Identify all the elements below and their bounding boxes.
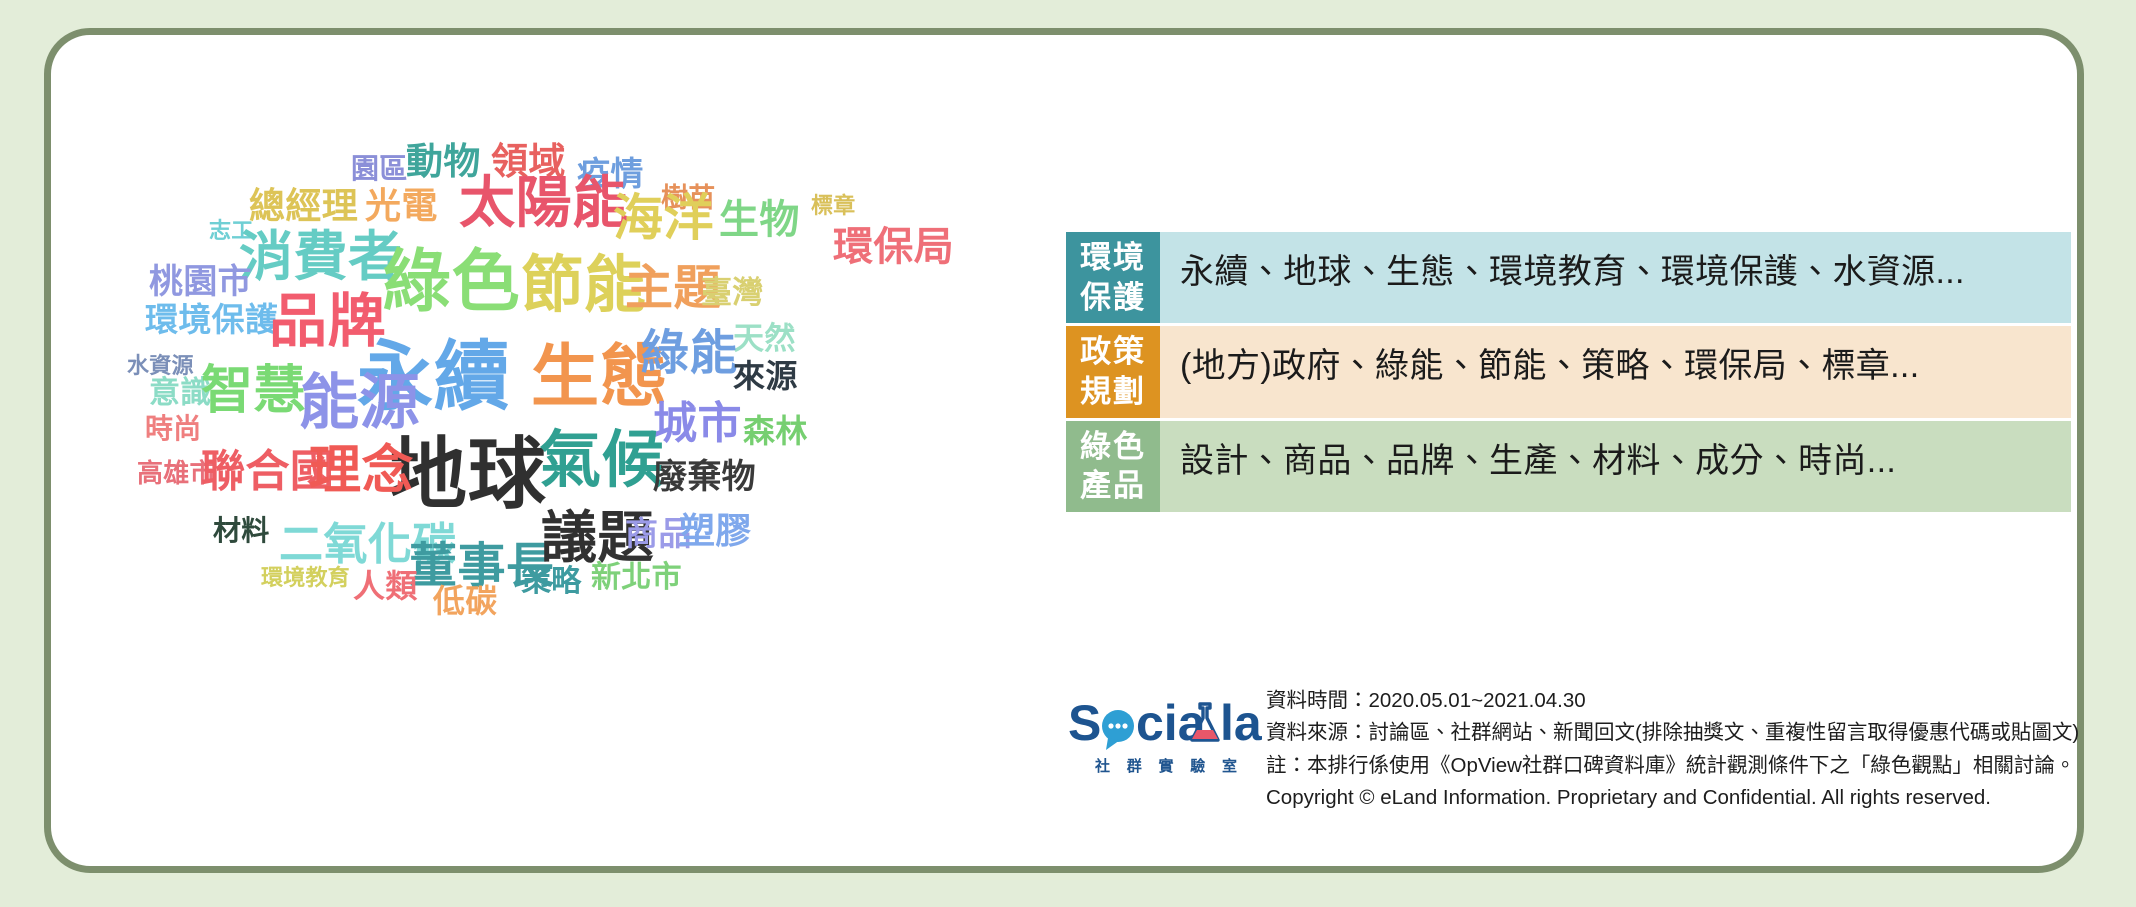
word-cloud-term-label: 海洋 <box>613 190 714 246</box>
category-label-line: 保護 <box>1080 278 1146 318</box>
footer-note-line: Copyright © eLand Information. Proprieta… <box>1266 782 2079 813</box>
word-cloud-term: 理念 <box>309 445 414 497</box>
word-cloud-term: 材料 <box>213 517 270 545</box>
word-cloud-term: 環保局 <box>833 227 954 267</box>
word-cloud-term: 人類 <box>353 570 418 602</box>
word-cloud-term-label: 氣候 <box>539 426 664 495</box>
word-cloud-term-label: 綠色 <box>383 244 520 320</box>
word-cloud-term: 標章 <box>811 195 855 217</box>
word-cloud-term-label: 人類 <box>353 568 418 604</box>
word-cloud-term: 海洋 <box>613 193 714 243</box>
word-cloud-term-label: 低碳 <box>433 583 498 619</box>
footer-note-line: 資料來源：討論區、社群網站、新聞回文(排除抽獎文、重複性留言取得優惠代碼或貼圖文… <box>1266 717 2079 748</box>
word-cloud-term: 光電 <box>365 188 438 224</box>
table-row: 政策規劃(地方)政府、綠能、節能、策略、環保局、標章... <box>1066 326 2071 417</box>
word-cloud-term-label: 廢棄物 <box>653 458 756 496</box>
word-cloud-term: 綠色 <box>383 248 520 316</box>
word-cloud-term-label: 環保局 <box>833 225 954 269</box>
sociallab-logo: S cia lab 社 群 實 驗 室 <box>1066 680 1266 814</box>
word-cloud-term: 總經理 <box>249 188 358 224</box>
word-cloud-term: 城市 <box>653 402 742 446</box>
word-cloud-term-label: 生物 <box>719 198 800 242</box>
word-cloud-term-label: 消費者 <box>239 227 403 287</box>
category-cell: 綠色產品 <box>1066 421 1160 512</box>
word-cloud-term: 消費者 <box>239 230 403 284</box>
keywords-cell: (地方)政府、綠能、節能、策略、環保局、標章... <box>1160 326 2071 417</box>
category-cell: 環境保護 <box>1066 232 1160 323</box>
keywords-cell: 永續、地球、生態、環境教育、環境保護、水資源... <box>1160 232 2071 323</box>
svg-text:cia: cia <box>1136 696 1207 751</box>
word-cloud-term: 新北市 <box>591 563 682 593</box>
word-cloud-term: 低碳 <box>433 585 498 617</box>
word-cloud-term-label: 環境保護 <box>145 301 278 338</box>
word-cloud-term: 廢棄物 <box>653 460 756 494</box>
category-label-line: 綠色 <box>1080 427 1146 467</box>
word-cloud-term: 環境保護 <box>145 303 278 336</box>
footer-note-line: 資料時間：2020.05.01~2021.04.30 <box>1266 685 2079 716</box>
word-cloud-term: 策略 <box>521 567 582 597</box>
word-cloud-term: 塑膠 <box>679 513 752 549</box>
word-cloud-term-label: 環境教育 <box>261 565 350 590</box>
word-cloud-term: 桃園市 <box>149 265 252 299</box>
word-cloud-term-label: 時尚 <box>145 413 202 444</box>
category-label-line: 政策 <box>1080 332 1146 372</box>
category-label-line: 產品 <box>1080 466 1146 506</box>
word-cloud-term-label: 理念 <box>309 442 414 500</box>
word-cloud-term-label: 桃園市 <box>149 263 252 301</box>
word-cloud-term: 環境教育 <box>261 567 350 589</box>
sociallab-logo-mark: S cia lab <box>1066 696 1262 752</box>
word-cloud-term: 綠能 <box>641 330 738 378</box>
category-keyword-table: 環境保護永續、地球、生態、環境教育、環境保護、水資源...政策規劃(地方)政府、… <box>1066 232 2071 515</box>
word-cloud-term-label: 園區 <box>351 153 408 184</box>
word-cloud-term: 天然 <box>733 323 796 354</box>
word-cloud-term-label: 塑膠 <box>679 510 752 551</box>
word-cloud-term-label: 材料 <box>213 515 270 546</box>
footer-notes: 資料時間：2020.05.01~2021.04.30資料來源：討論區、社群網站、… <box>1266 680 2079 814</box>
footer-note-line: 註：本排行係使用《OpView社群口碑資料庫》統計觀測條件下之「綠色觀點」相關討… <box>1266 750 2079 781</box>
word-cloud-term-label: 智慧 <box>201 362 306 420</box>
svg-text:lab: lab <box>1220 696 1262 751</box>
word-cloud: 園區動物領域疫情樹苗總經理光電太陽能海洋生物標章志工消費者環保局桃園市綠色節能主… <box>61 45 1051 835</box>
word-cloud-term: 氣候 <box>539 430 664 492</box>
word-cloud-term-label: 能源 <box>299 369 420 436</box>
table-row: 綠色產品設計、商品、品牌、生產、材料、成分、時尚... <box>1066 421 2071 512</box>
word-cloud-term-label: 臺灣 <box>701 275 764 310</box>
category-label-line: 環境 <box>1080 238 1146 278</box>
word-cloud-term: 森林 <box>743 415 808 447</box>
word-cloud-term: 智慧 <box>201 365 306 417</box>
word-cloud-term: 園區 <box>351 155 408 183</box>
word-cloud-term-label: 光電 <box>365 185 438 226</box>
word-cloud-term: 太陽能 <box>459 175 629 231</box>
word-cloud-term: 生物 <box>719 200 800 240</box>
keywords-cell: 設計、商品、品牌、生產、材料、成分、時尚... <box>1160 421 2071 512</box>
footer: S cia lab 社 群 實 驗 室 資料時間：2020.05.01~2021… <box>1066 680 2076 814</box>
category-cell: 政策規劃 <box>1066 326 1160 417</box>
word-cloud-term: 能源 <box>299 373 420 433</box>
word-cloud-term-label: 天然 <box>733 321 796 356</box>
word-cloud-term-label: 策略 <box>521 565 582 598</box>
word-cloud-term: 來源 <box>733 360 798 392</box>
word-cloud-term-label: 城市 <box>653 399 742 448</box>
word-cloud-term: 時尚 <box>145 415 202 443</box>
word-cloud-term-label: 來源 <box>733 358 798 394</box>
word-cloud-term: 臺灣 <box>701 277 764 308</box>
word-cloud-term-label: 森林 <box>743 413 808 449</box>
word-cloud-term-label: 新北市 <box>591 561 682 594</box>
logo-subtitle: 社 群 實 驗 室 <box>1066 755 1266 776</box>
main-panel: 園區動物領域疫情樹苗總經理光電太陽能海洋生物標章志工消費者環保局桃園市綠色節能主… <box>44 28 2084 873</box>
svg-text:S: S <box>1068 696 1101 751</box>
word-cloud-term-label: 總經理 <box>249 185 358 226</box>
word-cloud-term-label: 太陽能 <box>459 171 629 234</box>
category-label-line: 規劃 <box>1080 372 1146 412</box>
word-cloud-term-label: 標章 <box>811 193 855 218</box>
table-row: 環境保護永續、地球、生態、環境教育、環境保護、水資源... <box>1066 232 2071 323</box>
word-cloud-term: 水資源 <box>127 355 194 377</box>
word-cloud-term-label: 綠能 <box>641 327 738 380</box>
